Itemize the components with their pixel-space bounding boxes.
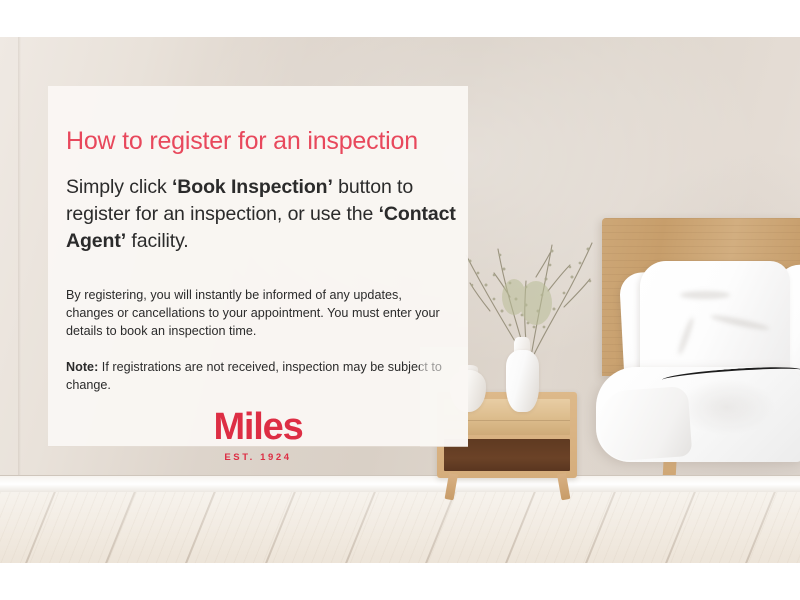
note-text: If registrations are not received, inspe…	[66, 360, 442, 392]
logo-established: EST. 1924	[48, 453, 468, 463]
page-title: How to register for an inspection	[66, 127, 418, 156]
book-inspection-label: ‘Book Inspection’	[172, 176, 333, 198]
letterbox-top	[0, 0, 800, 37]
info-card-content: How to register for an inspection Simply…	[48, 86, 468, 446]
body-paragraph-note: Note: If registrations are not received,…	[66, 359, 451, 395]
card-overlay-translucent	[420, 347, 468, 447]
pillow-crease	[680, 291, 730, 299]
info-card: How to register for an inspection Simply…	[48, 86, 468, 446]
note-label: Note:	[66, 360, 98, 374]
floor	[0, 492, 800, 563]
room-scene: How to register for an inspection Simply…	[0, 37, 800, 563]
body-paragraph-registering: By registering, you will instantly be in…	[66, 287, 451, 341]
letterbox-bottom	[0, 563, 800, 600]
subheading-part-3: facility.	[126, 230, 189, 252]
pillow-crease	[710, 313, 770, 332]
banner-stage: How to register for an inspection Simply…	[0, 0, 800, 600]
subheading-part-1: Simply click	[66, 176, 172, 198]
tall-vase	[506, 350, 539, 412]
brand-logo: Miles EST. 1924	[48, 408, 468, 463]
floor-woodgrain	[0, 492, 800, 563]
duvet-fold	[598, 386, 693, 462]
pillow-crease	[676, 316, 695, 356]
wall-corner-edge	[18, 37, 21, 485]
subheading: Simply click ‘Book Inspection’ button to…	[66, 174, 456, 255]
card-bottom-edge	[48, 446, 468, 447]
logo-wordmark: Miles	[48, 408, 468, 446]
